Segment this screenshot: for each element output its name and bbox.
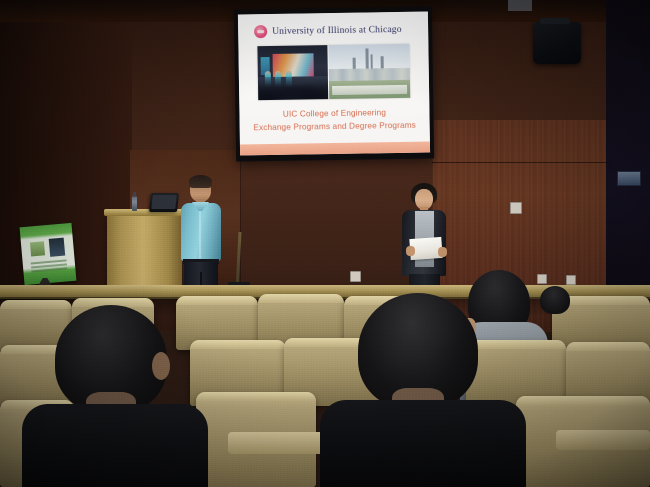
campus-photo-rooftop bbox=[332, 84, 407, 94]
wall-seam bbox=[240, 150, 241, 290]
ceiling-light-panel bbox=[508, 0, 532, 11]
laptop bbox=[149, 193, 179, 212]
projection-screen: University of Illinois at Chicago bbox=[234, 6, 434, 161]
wall-plate bbox=[510, 202, 522, 214]
water-bottle bbox=[132, 196, 137, 211]
skyline-tower bbox=[366, 49, 370, 71]
audience-front-left-body bbox=[22, 404, 208, 487]
audience-front-center-body bbox=[320, 400, 526, 487]
seat-armrest bbox=[228, 432, 324, 454]
wall-seam bbox=[432, 162, 610, 163]
wall-plate bbox=[566, 275, 576, 285]
female-presenter-left-hand bbox=[406, 246, 415, 256]
slide-caption-line-2: Exchange Programs and Degree Programs bbox=[253, 119, 416, 134]
audience-far-right-hair bbox=[540, 286, 570, 314]
poster-image-right bbox=[49, 238, 66, 257]
event-photo-crowd bbox=[258, 76, 328, 100]
uic-circle-logo bbox=[254, 25, 267, 38]
male-presenter-shirt bbox=[181, 203, 221, 261]
podium bbox=[107, 213, 182, 290]
wall-plate bbox=[350, 271, 361, 282]
campus-photo bbox=[328, 44, 410, 99]
wall-plate bbox=[537, 274, 547, 284]
audience-front-left-ear bbox=[152, 352, 170, 380]
male-presenter-hair bbox=[189, 175, 212, 188]
slide-header: University of Illinois at Chicago bbox=[238, 23, 428, 39]
screen-surface: University of Illinois at Chicago bbox=[238, 12, 430, 156]
event-photo bbox=[257, 45, 328, 100]
slide-photo-collage bbox=[257, 44, 410, 100]
easel-poster bbox=[20, 223, 77, 285]
poster-text-line bbox=[31, 267, 67, 272]
female-presenter-right-hand bbox=[438, 247, 447, 257]
lecture-hall-photo: University of Illinois at Chicago bbox=[0, 0, 650, 487]
slide-caption: UIC College of Engineering Exchange Prog… bbox=[253, 107, 416, 135]
seat-armrest bbox=[556, 430, 650, 450]
poster-image-left bbox=[30, 241, 45, 256]
slide-institution-title: University of Illinois at Chicago bbox=[272, 24, 402, 36]
presentation-slide: University of Illinois at Chicago bbox=[238, 12, 430, 156]
exit-sign-panel bbox=[617, 171, 641, 186]
ceiling-speaker bbox=[533, 22, 581, 64]
slide-footer-band bbox=[240, 142, 430, 156]
